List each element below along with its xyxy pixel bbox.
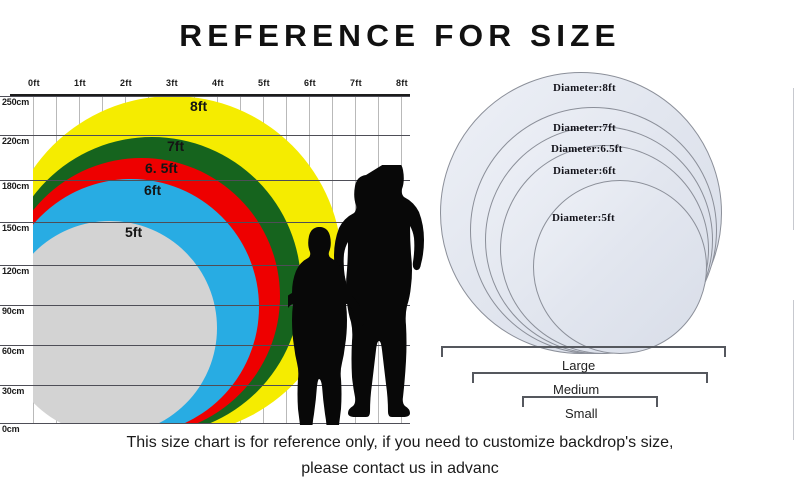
y-tick-120cm: 120cm: [2, 266, 29, 276]
disc-label-5ft: Diameter:5ft: [552, 212, 615, 224]
caption-line-1: This size chart is for reference only, i…: [0, 430, 800, 456]
x-tick-6ft: 6ft: [304, 78, 316, 88]
y-tick-60cm: 60cm: [2, 346, 24, 356]
ring-label-5ft: 5ft: [125, 224, 142, 240]
reference-disc-5ft: [533, 180, 707, 354]
caption-line-2: please contact us in advanc: [0, 456, 800, 482]
ring-label-8ft: 8ft: [190, 98, 207, 114]
x-tick-7ft: 7ft: [350, 78, 362, 88]
ring-label-7ft: 7ft: [167, 138, 184, 154]
x-tick-5ft: 5ft: [258, 78, 270, 88]
x-tick-8ft: 8ft: [396, 78, 408, 88]
bracket-label-large: Large: [562, 358, 595, 373]
ring-label-6ft: 6ft: [144, 182, 161, 198]
y-tick-250cm: 250cm: [2, 97, 29, 107]
disc-label-6.5ft: Diameter:6.5ft: [551, 143, 623, 155]
bracket-label-medium: Medium: [553, 382, 599, 397]
disc-diagram: Diameter:8ft Diameter:7ft Diameter:6.5ft…: [430, 60, 790, 360]
disc-label-8ft: Diameter:8ft: [553, 82, 616, 94]
horizontal-gridline: [0, 135, 410, 136]
y-tick-180cm: 180cm: [2, 181, 29, 191]
x-tick-1ft: 1ft: [74, 78, 86, 88]
x-axis-line: [10, 94, 410, 96]
right-edge-line-bottom: [793, 300, 794, 440]
y-tick-220cm: 220cm: [2, 136, 29, 146]
x-tick-4ft: 4ft: [212, 78, 224, 88]
disc-label-7ft: Diameter:7ft: [553, 122, 616, 134]
ring-label-6.5ft: 6. 5ft: [145, 160, 178, 176]
chart-caption: This size chart is for reference only, i…: [0, 430, 800, 482]
adult-silhouette: [334, 165, 424, 417]
y-tick-30cm: 30cm: [2, 386, 24, 396]
horizontal-gridline: [0, 96, 410, 97]
disc-label-6ft: Diameter:6ft: [553, 165, 616, 177]
y-tick-90cm: 90cm: [2, 306, 24, 316]
page-title: REFERENCE FOR SIZE: [0, 18, 800, 54]
x-tick-2ft: 2ft: [120, 78, 132, 88]
bracket-outer: [441, 346, 726, 357]
bracket-label-small: Small: [565, 406, 598, 421]
right-edge-line-top: [793, 88, 794, 230]
size-reference-chart: REFERENCE FOR SIZE: [0, 0, 800, 488]
silhouette-group: [288, 165, 428, 425]
y-tick-150cm: 150cm: [2, 223, 29, 233]
x-tick-3ft: 3ft: [166, 78, 178, 88]
x-tick-0ft: 0ft: [28, 78, 40, 88]
